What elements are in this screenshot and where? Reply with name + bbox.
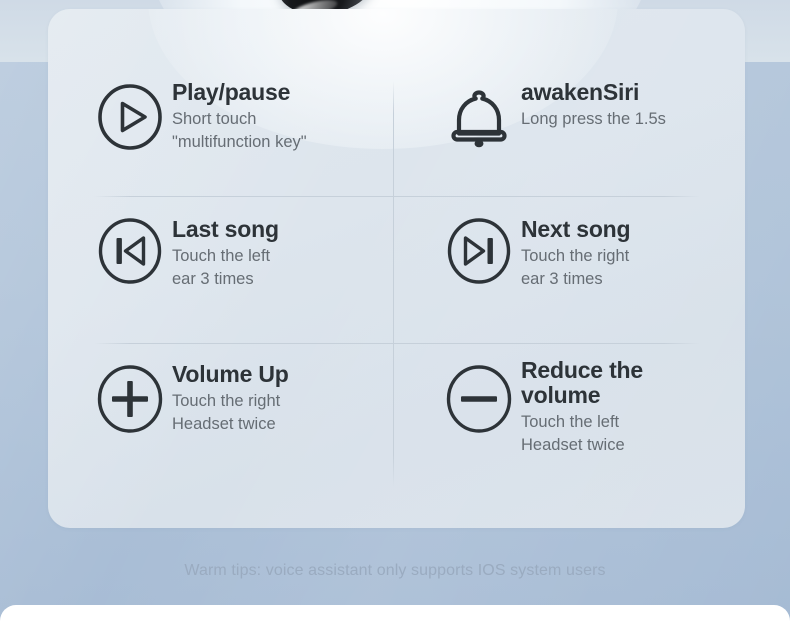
feature-title: Last song xyxy=(172,217,279,242)
feature-item-volume-up[interactable]: Volume Up Touch the right Headset twice xyxy=(94,352,397,487)
feature-subtitle: Touch the left ear 3 times xyxy=(172,245,279,292)
feature-item-next-song[interactable]: Next song Touch the right ear 3 times xyxy=(397,205,700,352)
feature-item-play-pause[interactable]: Play/pause Short touch "multifunction ke… xyxy=(94,77,397,205)
feature-text: Next song Touch the right ear 3 times xyxy=(515,211,630,292)
feature-row: Last song Touch the left ear 3 times Nex… xyxy=(94,205,700,352)
feature-grid: Play/pause Short touch "multifunction ke… xyxy=(94,77,700,487)
previous-track-circle-icon xyxy=(94,211,166,285)
feature-item-volume-down[interactable]: Reduce the volume Touch the left Headset… xyxy=(397,352,700,487)
feature-row: Play/pause Short touch "multifunction ke… xyxy=(94,77,700,205)
feature-subtitle: Short touch "multifunction key" xyxy=(172,108,307,155)
feature-subtitle: Touch the right Headset twice xyxy=(172,390,289,437)
bell-icon xyxy=(443,79,515,153)
feature-text: Last song Touch the left ear 3 times xyxy=(166,211,279,292)
feature-text: Play/pause Short touch "multifunction ke… xyxy=(166,79,307,155)
next-track-circle-icon xyxy=(443,211,515,285)
plus-circle-icon xyxy=(94,358,166,434)
feature-title: Reduce the volume xyxy=(521,358,643,408)
feature-title: Volume Up xyxy=(172,362,289,387)
feature-subtitle: Touch the right ear 3 times xyxy=(521,245,630,292)
feature-item-awaken-siri[interactable]: awakenSiri Long press the 1.5s xyxy=(397,77,700,205)
feature-item-last-song[interactable]: Last song Touch the left ear 3 times xyxy=(94,205,397,352)
feature-title: Play/pause xyxy=(172,80,307,105)
minus-circle-icon xyxy=(443,358,515,434)
footer-tip-text: Warm tips: voice assistant only supports… xyxy=(0,562,790,580)
feature-title: Next song xyxy=(521,217,630,242)
feature-card: Play/pause Short touch "multifunction ke… xyxy=(48,9,745,528)
feature-text: awakenSiri Long press the 1.5s xyxy=(515,79,666,131)
feature-subtitle: Touch the left Headset twice xyxy=(521,411,643,458)
page-background: Play/pause Short touch "multifunction ke… xyxy=(0,0,790,621)
feature-row: Volume Up Touch the right Headset twice … xyxy=(94,352,700,487)
feature-title: awakenSiri xyxy=(521,80,666,105)
play-pause-circle-icon xyxy=(94,79,166,151)
feature-text: Volume Up Touch the right Headset twice xyxy=(166,358,289,437)
feature-text: Reduce the volume Touch the left Headset… xyxy=(515,358,643,458)
bottom-white-panel xyxy=(0,605,790,621)
feature-subtitle: Long press the 1.5s xyxy=(521,108,666,131)
